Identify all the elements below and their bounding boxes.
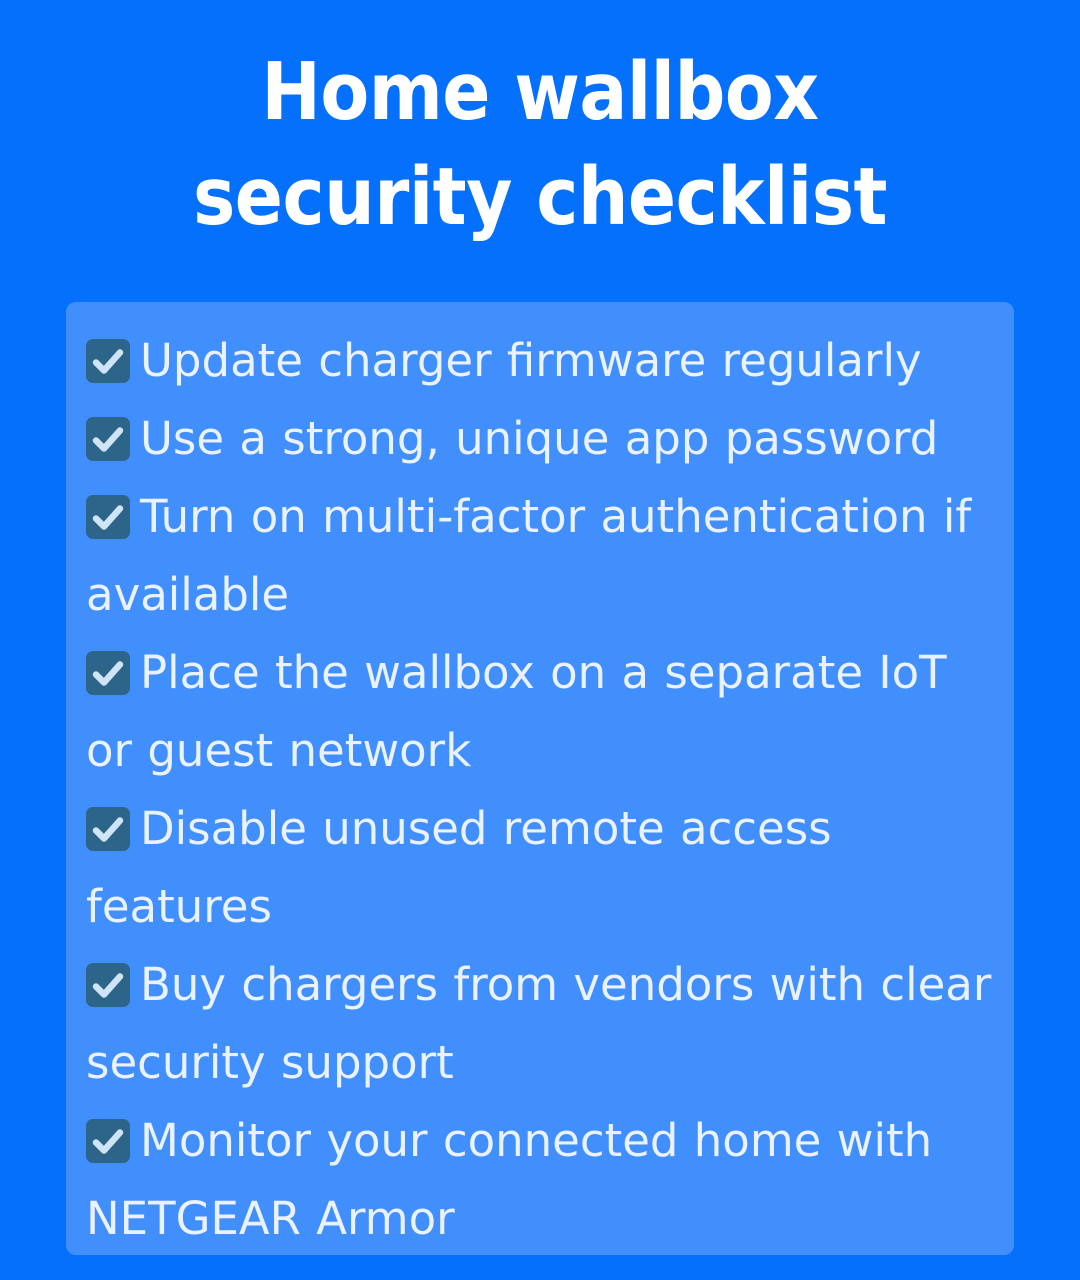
white-heavy-check-mark-icon: [86, 417, 130, 461]
page-title-line-1: Home wallbox: [261, 46, 818, 138]
checklist-poster: Home wallbox security checklist Update c…: [0, 0, 1080, 1280]
checklist-item-label: Turn on multi-factor authentication if a…: [86, 490, 971, 621]
checklist-item[interactable]: Monitor your connected home with NETGEAR…: [86, 1102, 992, 1255]
checklist: Update charger firmware regularlyUse a s…: [86, 322, 992, 1255]
white-heavy-check-mark-icon: [86, 1119, 130, 1163]
checklist-item[interactable]: Update charger firmware regularly: [86, 322, 992, 400]
white-heavy-check-mark-icon: [86, 807, 130, 851]
checklist-item[interactable]: Use a strong, unique app password: [86, 400, 992, 478]
checklist-item-label: Disable unused remote access features: [86, 802, 832, 933]
checklist-item-label: Monitor your connected home with NETGEAR…: [86, 1114, 932, 1245]
checklist-item[interactable]: Turn on multi-factor authentication if a…: [86, 478, 992, 634]
white-heavy-check-mark-icon: [86, 339, 130, 383]
checklist-item[interactable]: Buy chargers from vendors with clear sec…: [86, 946, 992, 1102]
checklist-card: Update charger firmware regularlyUse a s…: [66, 302, 1014, 1255]
checklist-item-label: Use a strong, unique app password: [140, 412, 938, 465]
checklist-item-label: Place the wallbox on a separate IoT or g…: [86, 646, 947, 777]
checklist-item[interactable]: Place the wallbox on a separate IoT or g…: [86, 634, 992, 790]
checklist-item-label: Buy chargers from vendors with clear sec…: [86, 958, 991, 1089]
checklist-item[interactable]: Disable unused remote access features: [86, 790, 992, 946]
white-heavy-check-mark-icon: [86, 651, 130, 695]
white-heavy-check-mark-icon: [86, 963, 130, 1007]
white-heavy-check-mark-icon: [86, 495, 130, 539]
checklist-item-label: Update charger firmware regularly: [140, 334, 922, 387]
page-title-line-2: security checklist: [193, 151, 887, 243]
page-title: Home wallbox security checklist: [70, 0, 1010, 250]
